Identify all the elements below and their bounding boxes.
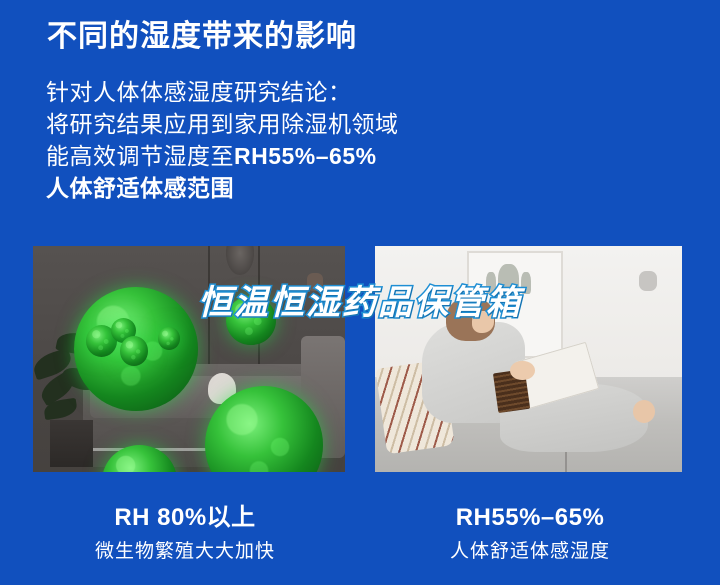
caption-comfort-humidity: RH55%–65% 人体舒适体感湿度: [370, 503, 690, 565]
caption-title: RH 80%以上: [25, 503, 345, 533]
foot: [633, 400, 655, 423]
body-copy: 针对人体体感湿度研究结论： 将研究结果应用到家用除湿机领域 能高效调节湿度至RH…: [46, 76, 516, 204]
body-copy-line-3: 能高效调节湿度至RH55%–65%: [46, 140, 516, 172]
plant-pot: [50, 420, 93, 468]
caption-subtitle: 人体舒适体感湿度: [370, 539, 690, 565]
watermark-text: 恒温恒湿药品保管箱: [0, 275, 720, 324]
page-title: 不同的湿度带来的影响: [47, 18, 357, 56]
hand: [510, 361, 535, 381]
microbe-sphere: [120, 336, 148, 365]
caption-subtitle: 微生物繁殖大大加快: [25, 539, 345, 565]
body-copy-line-3-humidity-range: RH55%–65%: [234, 143, 377, 169]
body-copy-line-3-prefix: 能高效调节湿度至: [46, 143, 234, 169]
body-copy-line-1: 针对人体体感湿度研究结论：: [46, 76, 516, 108]
caption-high-humidity: RH 80%以上 微生物繁殖大大加快: [25, 503, 345, 565]
caption-row: RH 80%以上 微生物繁殖大大加快 RH55%–65% 人体舒适体感湿度: [0, 503, 720, 585]
microbe-sphere: [158, 327, 180, 350]
body-copy-line-4: 人体舒适体感范围: [46, 172, 516, 204]
caption-title: RH55%–65%: [370, 503, 690, 533]
body-copy-line-2: 将研究结果应用到家用除湿机领域: [46, 108, 516, 140]
humidity-infographic-poster: 不同的湿度带来的影响 针对人体体感湿度研究结论： 将研究结果应用到家用除湿机领域…: [0, 0, 720, 585]
